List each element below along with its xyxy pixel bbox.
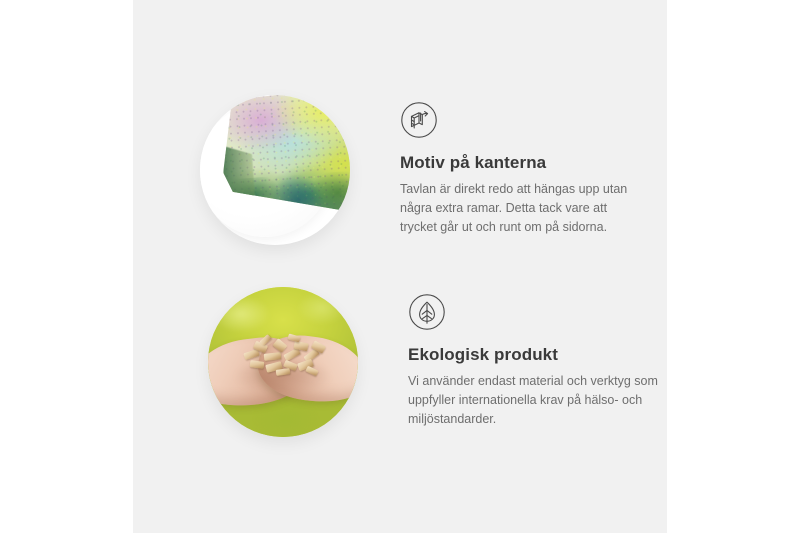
feature-row-canvas-edges: Motiv på kanterna Tavlan är direkt redo … — [133, 95, 667, 245]
desc-line: Vi använder endast material och verktyg … — [408, 372, 675, 391]
leaf-icon — [408, 293, 446, 331]
media-circle — [208, 287, 358, 437]
media-circle — [200, 95, 350, 245]
desc-line: trycket går ut och runt om på sidorna. — [400, 218, 658, 237]
canvas-scene — [200, 95, 350, 245]
feature-title: Motiv på kanterna — [400, 153, 667, 173]
feature-description: Tavlan är direkt redo att hängas upp uta… — [400, 180, 658, 237]
feature-description: Vi använder endast material och verktyg … — [408, 372, 675, 429]
feature-title: Ekologisk produkt — [408, 345, 675, 365]
feature-text-block: Ekologisk produkt Vi använder endast mat… — [358, 287, 675, 429]
desc-line: uppfyller internationella krav på hälso-… — [408, 391, 675, 410]
desc-line: några extra ramar. Detta tack vare att — [400, 199, 658, 218]
canvas-edge-print-icon — [400, 101, 438, 139]
product-feature-infographic: Motiv på kanterna Tavlan är direkt redo … — [0, 0, 800, 533]
wood-chips-pile — [240, 331, 332, 381]
wood-chips-in-hands-photo — [208, 287, 358, 437]
feature-row-eco-product: Ekologisk produkt Vi använder endast mat… — [141, 287, 675, 437]
desc-line: Tavlan är direkt redo att hängas upp uta… — [400, 180, 658, 199]
canvas-print-corner-photo — [200, 95, 350, 245]
desc-line: miljöstandarder. — [408, 410, 675, 429]
feature-text-block: Motiv på kanterna Tavlan är direkt redo … — [350, 95, 667, 237]
eco-scene — [208, 287, 358, 437]
content-band — [133, 0, 667, 533]
